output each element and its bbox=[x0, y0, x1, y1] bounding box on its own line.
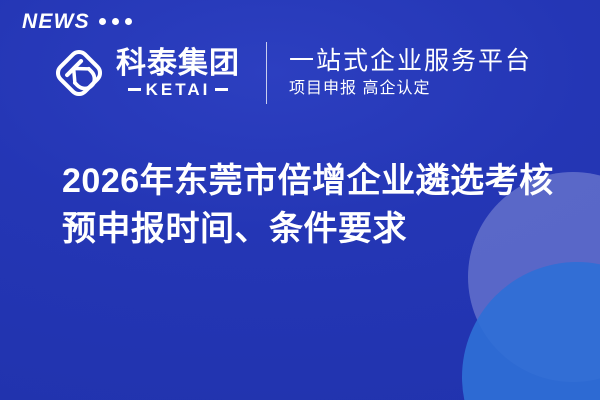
news-banner: NEWS 科泰集团 KETAI bbox=[0, 0, 600, 400]
dot-icon bbox=[125, 18, 132, 25]
brand-name-cn: 科泰集团 bbox=[116, 48, 240, 80]
brand-rule-left bbox=[128, 88, 141, 91]
brand-name-en-row: KETAI bbox=[116, 81, 240, 98]
ketai-diamond-kd-logo-icon bbox=[50, 44, 108, 102]
news-tag-dots-icon bbox=[99, 18, 132, 25]
brand-wordmark: 科泰集团 KETAI bbox=[116, 48, 240, 99]
slogan-block: 一站式企业服务平台 项目申报 高企认定 bbox=[289, 48, 532, 98]
news-tag: NEWS bbox=[22, 11, 132, 32]
brand-name-en: KETAI bbox=[146, 81, 211, 98]
page-title: 2026年东莞市倍增企业遴选考核预申报时间、条件要求 bbox=[62, 157, 562, 254]
slogan-main: 一站式企业服务平台 bbox=[289, 48, 532, 76]
slogan-sub: 项目申报 高企认定 bbox=[289, 80, 532, 98]
news-tag-label: NEWS bbox=[22, 11, 90, 32]
dot-icon bbox=[99, 18, 106, 25]
dot-icon bbox=[112, 18, 119, 25]
brand-rule-right bbox=[215, 88, 228, 91]
brand-divider bbox=[266, 42, 267, 104]
brand-bar: 科泰集团 KETAI 一站式企业服务平台 项目申报 高企认定 bbox=[50, 42, 532, 104]
brand-lockup: 科泰集团 KETAI bbox=[50, 44, 240, 102]
